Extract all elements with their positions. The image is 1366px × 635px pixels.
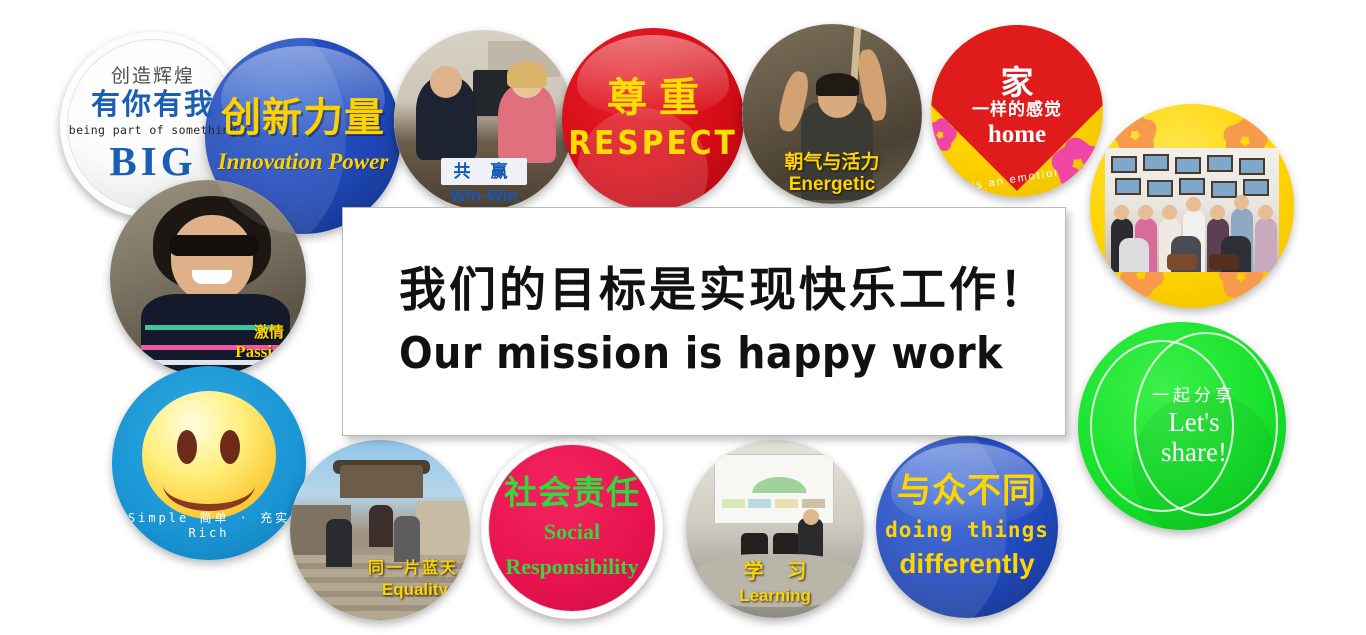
smiley-arc-text: Simple 简单 · 充实 Rich bbox=[112, 509, 306, 540]
passion-label-en: Passion bbox=[235, 342, 290, 362]
learning-label-en: Learning bbox=[686, 586, 864, 606]
bubble-win-win[interactable]: 共 赢 Win-Win bbox=[394, 30, 574, 210]
energetic-label-en: Energetic bbox=[742, 174, 922, 196]
home-subtitle-cn: 一样的感觉 bbox=[937, 99, 1097, 122]
home-title-cn: 家 bbox=[937, 66, 1097, 99]
differently-title-cn: 与众不同 bbox=[882, 474, 1052, 510]
social-title-en-line2: Responsibility bbox=[487, 554, 657, 581]
innovation-title-en: Innovation Power bbox=[211, 149, 395, 175]
group-photo-image bbox=[1105, 148, 1279, 272]
mission-headline-cn: 我们的目标是实现快乐工作！ bbox=[399, 262, 1065, 321]
passion-label-cn: 激情 bbox=[254, 321, 284, 342]
values-collage-canvas: 创造辉煌 有你有我 being part of something BIG 创新… bbox=[0, 0, 1366, 635]
bubble-energetic[interactable]: 朝气与活力 Energetic bbox=[742, 24, 922, 204]
share-title-cn: 一起分享 bbox=[1108, 385, 1280, 407]
learning-label-cn: 学 习 bbox=[686, 555, 864, 584]
respect-title-cn: 尊重 bbox=[568, 77, 738, 119]
respect-title-en: RESPECT bbox=[568, 123, 738, 162]
differently-title-en-line1: doing things bbox=[882, 518, 1052, 542]
bubble-home-is-an-emotion[interactable]: 家 一样的感觉 home is an emotion bbox=[931, 25, 1103, 197]
social-title-cn: 社会责任 bbox=[487, 475, 657, 511]
bubble-doing-things-differently[interactable]: 与众不同 doing things differently bbox=[876, 436, 1058, 618]
bubble-lets-share[interactable]: 一起分享 Let's share! bbox=[1078, 322, 1286, 530]
equality-label-cn: 同一片蓝天 bbox=[368, 554, 458, 578]
flower-icon bbox=[1051, 137, 1103, 191]
win-win-photo bbox=[394, 30, 574, 210]
mission-headline-en: Our mission is happy work bbox=[399, 328, 1065, 381]
energetic-label-cn: 朝气与活力 bbox=[742, 147, 922, 174]
bubble-simple-rich-smiley[interactable]: Simple 简单 · 充实 Rich bbox=[112, 366, 306, 560]
mission-banner: 我们的目标是实现快乐工作！ Our mission is happy work bbox=[342, 207, 1066, 436]
differently-title-en-line2: differently bbox=[882, 548, 1052, 580]
bubble-learning[interactable]: 学 习 Learning bbox=[686, 440, 864, 618]
bubble-social-responsibility[interactable]: 社会责任 Social Responsibility bbox=[481, 437, 663, 619]
win-win-label-cn: 共 赢 bbox=[394, 157, 574, 182]
bubble-team-group-photo[interactable] bbox=[1090, 104, 1294, 308]
bubble-respect[interactable]: 尊重 RESPECT bbox=[562, 28, 744, 210]
innovation-title-cn: 创新力量 bbox=[211, 97, 395, 139]
share-title-en-line1: Let's bbox=[1108, 407, 1280, 437]
smiley-face-icon bbox=[142, 391, 276, 519]
share-title-en-line2: share! bbox=[1108, 437, 1280, 467]
win-win-label-en: Win-Win bbox=[394, 186, 574, 206]
flower-icon bbox=[931, 118, 957, 152]
equality-label-en: Equality bbox=[382, 580, 448, 600]
big-line-1: 创造辉煌 bbox=[66, 66, 240, 88]
bubble-equality[interactable]: 同一片蓝天 Equality bbox=[290, 440, 470, 620]
social-title-en-line1: Social bbox=[487, 519, 657, 546]
